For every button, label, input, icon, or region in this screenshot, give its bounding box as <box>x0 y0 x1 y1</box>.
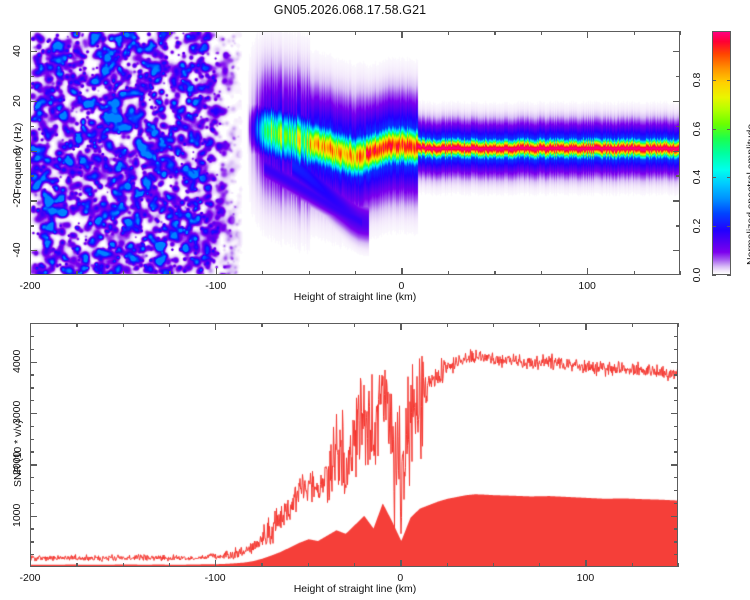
y-minor-tick-right <box>676 175 680 176</box>
y-minor-tick <box>30 477 34 478</box>
x-major-tick <box>216 268 217 275</box>
y-minor-tick <box>30 451 34 452</box>
x-minor-tick <box>169 563 170 567</box>
x-minor-tick <box>261 563 262 567</box>
x-minor-tick-top <box>123 323 124 327</box>
colorbar-tick-label: 0.0 <box>691 264 703 286</box>
x-minor-tick-top <box>354 323 355 327</box>
y-minor-tick-right <box>674 400 678 401</box>
x-major-tick-top <box>400 323 401 330</box>
x-minor-tick-top <box>632 323 633 327</box>
y-major-tick <box>30 464 37 465</box>
y-minor-tick-right <box>676 126 680 127</box>
y-major-tick-right <box>671 413 678 414</box>
spectrogram-plot-area <box>31 32 679 274</box>
snr-plot-area <box>31 324 677 566</box>
x-major-tick-top <box>585 323 586 330</box>
colorbar-tick <box>712 80 716 81</box>
y-minor-tick-right <box>674 528 678 529</box>
colorbar-tick-label: 0.6 <box>691 118 703 140</box>
y-minor-tick-right <box>674 541 678 542</box>
x-tick-label: -200 <box>19 280 40 292</box>
y-major-tick-right <box>673 151 680 152</box>
y-tick-label: -40 <box>11 239 23 261</box>
y-minor-tick <box>30 126 34 127</box>
x-minor-tick-top <box>634 31 635 35</box>
y-tick-label: 40 <box>11 40 23 62</box>
y-major-tick <box>30 250 37 251</box>
x-minor-tick <box>678 563 679 567</box>
x-major-tick-top <box>401 31 402 38</box>
y-major-tick <box>30 200 37 201</box>
y-minor-tick-right <box>674 477 678 478</box>
y-minor-tick-right <box>674 387 678 388</box>
y-minor-tick-right <box>674 490 678 491</box>
x-minor-tick <box>354 563 355 567</box>
x-major-tick <box>587 268 588 275</box>
x-minor-tick-top <box>123 31 124 35</box>
x-minor-tick <box>262 271 263 275</box>
x-minor-tick-top <box>262 31 263 35</box>
x-major-tick <box>401 268 402 275</box>
colorbar-tick <box>727 80 731 81</box>
y-major-tick-right <box>673 200 680 201</box>
x-major-tick-top <box>216 31 217 38</box>
colorbar-tick <box>712 177 716 178</box>
colorbar-tick <box>727 275 731 276</box>
x-tick-label: -100 <box>205 572 226 584</box>
x-minor-tick <box>355 271 356 275</box>
x-minor-tick-top <box>448 31 449 35</box>
x-minor-tick-top <box>308 323 309 327</box>
y-major-tick <box>30 413 37 414</box>
y-minor-tick-right <box>674 374 678 375</box>
x-minor-tick-top <box>169 323 170 327</box>
x-major-tick <box>400 560 401 567</box>
x-minor-tick-top <box>169 31 170 35</box>
y-minor-tick <box>30 225 34 226</box>
colorbar-tick <box>727 129 731 130</box>
colorbar-gradient <box>713 32 730 274</box>
x-major-tick <box>215 560 216 567</box>
x-minor-tick <box>76 271 77 275</box>
y-minor-tick-right <box>674 451 678 452</box>
y-minor-tick-right <box>674 554 678 555</box>
y-minor-tick-right <box>674 336 678 337</box>
x-minor-tick-top <box>539 323 540 327</box>
colorbar-tick <box>727 177 731 178</box>
x-major-tick-top <box>215 323 216 330</box>
x-minor-tick <box>493 563 494 567</box>
y-minor-tick <box>30 387 34 388</box>
y-major-tick <box>30 151 37 152</box>
y-minor-tick <box>30 490 34 491</box>
y-minor-tick <box>30 175 34 176</box>
y-minor-tick <box>30 349 34 350</box>
x-major-tick-top <box>30 31 31 38</box>
x-major-tick-top <box>30 323 31 330</box>
colorbar-tick-label: 0.2 <box>691 215 703 237</box>
x-minor-tick <box>448 271 449 275</box>
y-minor-tick-right <box>674 503 678 504</box>
y-major-tick <box>30 101 37 102</box>
x-tick-label: 100 <box>578 280 596 292</box>
x-minor-tick <box>309 271 310 275</box>
colorbar-tick-label: 0.4 <box>691 166 703 188</box>
colorbar-tick <box>712 275 716 276</box>
y-minor-tick <box>30 76 34 77</box>
y-minor-tick-right <box>674 349 678 350</box>
x-minor-tick-top <box>76 323 77 327</box>
x-major-tick-top <box>587 31 588 38</box>
x-minor-tick <box>634 271 635 275</box>
x-tick-label: 100 <box>577 572 595 584</box>
y-tick-label: 20 <box>11 90 23 112</box>
colorbar-title: Normalized spectral amplitude <box>745 124 750 265</box>
x-tick-label: -100 <box>205 280 226 292</box>
x-minor-tick <box>76 563 77 567</box>
y-tick-label: 1000 <box>11 505 23 527</box>
y-minor-tick <box>30 554 34 555</box>
snr-xaxis-title: Height of straight line (km) <box>294 583 417 595</box>
x-minor-tick-top <box>355 31 356 35</box>
spectrogram-xaxis-title: Height of straight line (km) <box>294 291 417 303</box>
spectrogram-image <box>31 32 679 274</box>
y-minor-tick <box>30 541 34 542</box>
y-minor-tick <box>30 503 34 504</box>
x-tick-label: -200 <box>19 572 40 584</box>
x-major-tick <box>585 560 586 567</box>
y-minor-tick-right <box>674 426 678 427</box>
y-major-tick-right <box>671 464 678 465</box>
y-minor-tick-right <box>676 76 680 77</box>
y-major-tick <box>30 516 37 517</box>
colorbar-tick-label: 0.8 <box>691 69 703 91</box>
y-minor-tick-right <box>674 439 678 440</box>
y-minor-tick <box>30 400 34 401</box>
y-minor-tick <box>30 336 34 337</box>
x-minor-tick-top <box>76 31 77 35</box>
y-major-tick-right <box>673 101 680 102</box>
y-minor-tick <box>30 528 34 529</box>
x-minor-tick <box>447 563 448 567</box>
x-minor-tick <box>680 271 681 275</box>
x-minor-tick-top <box>680 31 681 35</box>
x-minor-tick <box>123 563 124 567</box>
y-major-tick <box>30 51 37 52</box>
x-minor-tick <box>308 563 309 567</box>
snr-panel <box>30 323 678 567</box>
x-minor-tick-top <box>309 31 310 35</box>
colorbar-tick <box>712 226 716 227</box>
x-minor-tick <box>539 563 540 567</box>
figure-root: GN05.2026.068.17.58.G21 -200-1000100-40-… <box>0 0 750 600</box>
x-minor-tick-top <box>493 323 494 327</box>
colorbar-tick <box>727 226 731 227</box>
x-minor-tick <box>541 271 542 275</box>
x-minor-tick <box>123 271 124 275</box>
y-major-tick-right <box>673 250 680 251</box>
y-major-tick-right <box>671 362 678 363</box>
x-minor-tick <box>494 271 495 275</box>
x-minor-tick-top <box>494 31 495 35</box>
x-minor-tick <box>169 271 170 275</box>
x-minor-tick-top <box>447 323 448 327</box>
y-major-tick <box>30 362 37 363</box>
x-major-tick <box>30 560 31 567</box>
y-minor-tick-right <box>676 225 680 226</box>
x-minor-tick-top <box>541 31 542 35</box>
spectrogram-panel <box>30 31 680 275</box>
y-major-tick-right <box>671 516 678 517</box>
y-minor-tick <box>30 374 34 375</box>
x-minor-tick-top <box>678 323 679 327</box>
x-minor-tick <box>632 563 633 567</box>
colorbar <box>712 31 731 275</box>
y-minor-tick <box>30 439 34 440</box>
x-major-tick <box>30 268 31 275</box>
snr-line-series <box>31 324 677 566</box>
y-minor-tick <box>30 426 34 427</box>
y-tick-label: 4000 <box>11 351 23 373</box>
spectrogram-yaxis-title: Frequency (Hz) <box>12 123 24 195</box>
y-major-tick-right <box>673 51 680 52</box>
colorbar-tick <box>712 129 716 130</box>
page-title: GN05.2026.068.17.58.G21 <box>0 3 700 17</box>
x-minor-tick-top <box>261 323 262 327</box>
snr-yaxis-title: SNR (10 * v/v) <box>12 420 24 487</box>
